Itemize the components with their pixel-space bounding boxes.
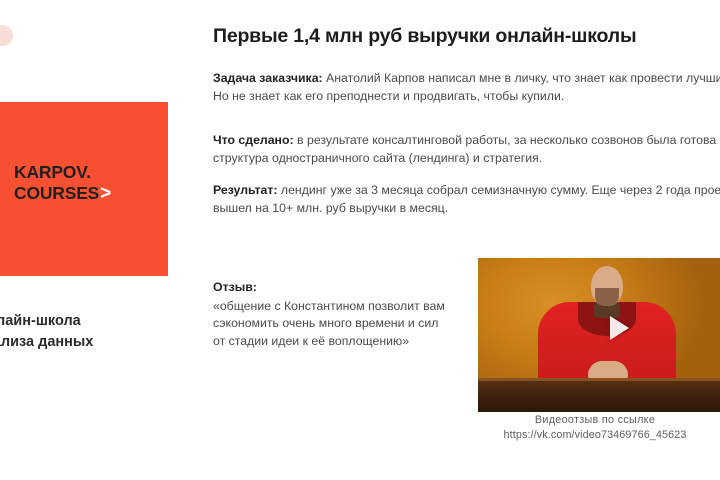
- paragraph-result: Результат: лендинг уже за 3 месяца собра…: [213, 182, 720, 217]
- testimonial-text: «общение с Константином позволит вам сэк…: [213, 299, 445, 348]
- paragraph-result-label: Результат:: [213, 183, 278, 197]
- slide-canvas: c 7 KARPOV. COURSES> Онлайн-школа анализ…: [0, 0, 720, 480]
- school-name-line2: анализа данных: [0, 332, 93, 353]
- paragraph-task-label: Задача заказчика:: [213, 71, 323, 85]
- brand-logo-line1: KARPOV.: [14, 162, 110, 183]
- testimonial-block: Отзыв: «общение с Константином позволит …: [213, 279, 448, 350]
- brand-logo-block: KARPOV. COURSES>: [0, 102, 168, 276]
- page-title: Первые 1,4 млн руб выручки онлайн-школы: [213, 24, 636, 48]
- paragraph-done: Что сделано: в результате консалтинговой…: [213, 132, 720, 167]
- brand-logo-line2: COURSES>: [14, 183, 110, 204]
- chevron-right-icon: >: [100, 183, 110, 204]
- video-caption: Видеоотзыв по ссылке https://vk.com/vide…: [450, 413, 720, 443]
- video-url-link[interactable]: https://vk.com/video73469766_45623: [450, 428, 720, 443]
- case-number-badge: c 7: [0, 25, 13, 46]
- person-beard: [595, 288, 619, 306]
- school-name-line1: Онлайн-школа: [0, 311, 93, 332]
- paragraph-task: Задача заказчика: Анатолий Карпов написа…: [213, 70, 720, 105]
- paragraph-done-label: Что сделано:: [213, 133, 294, 147]
- brand-logo-text: KARPOV. COURSES>: [14, 162, 110, 204]
- brand-logo-line2-text: COURSES: [14, 183, 99, 203]
- video-table-surface: [478, 378, 720, 412]
- paragraph-result-text: лендинг уже за 3 месяца собрал семизначн…: [213, 183, 720, 215]
- video-caption-label: Видеоотзыв по ссылке: [535, 414, 655, 426]
- testimonial-title: Отзыв:: [213, 279, 448, 297]
- play-triangle-icon[interactable]: [610, 316, 629, 340]
- school-name: Онлайн-школа анализа данных: [0, 311, 93, 353]
- video-testimonial-thumbnail[interactable]: [478, 258, 720, 412]
